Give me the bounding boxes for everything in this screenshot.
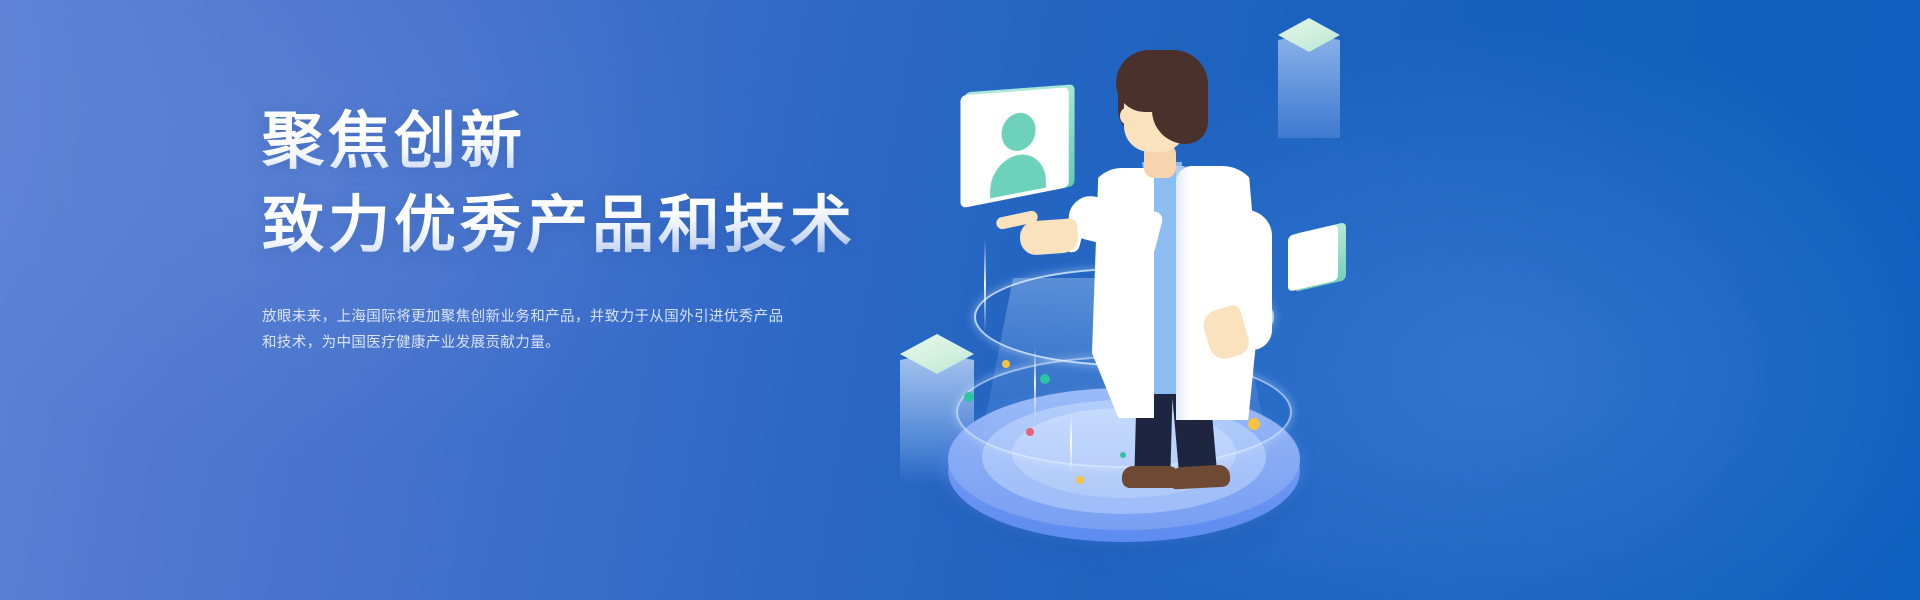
hero-illustration — [930, 0, 1750, 600]
banner-copy: 聚焦创新 致力优秀产品和技术 放眼未来，上海国际将更加聚焦创新业务和产品，并致力… — [262, 100, 902, 356]
doctor-shoe-right — [1169, 464, 1230, 489]
user-avatar-icon — [1002, 111, 1036, 153]
doctor-hair-sweep — [1152, 70, 1208, 144]
subtitle-line-1: 放眼未来，上海国际将更加聚焦创新业务和产品，并致力于从国外引进优秀产品 — [262, 304, 852, 330]
doctor-figure — [1058, 52, 1308, 488]
particle-dot — [1002, 360, 1010, 368]
particle-dot — [1026, 428, 1034, 436]
particle-dot — [1040, 374, 1050, 384]
avatar-card-face — [960, 87, 1068, 208]
headline-line-2: 致力优秀产品和技术 — [262, 184, 902, 268]
doctor-coat-shadow — [1176, 166, 1190, 420]
hero-banner: 聚焦创新 致力优秀产品和技术 放眼未来，上海国际将更加聚焦创新业务和产品，并致力… — [0, 0, 1920, 600]
particle-dot — [964, 392, 974, 402]
subtitle-line-2: 和技术，为中国医疗健康产业发展贡献力量。 — [262, 330, 852, 356]
banner-subtitle: 放眼未来，上海国际将更加聚焦创新业务和产品，并致力于从国外引进优秀产品 和技术，… — [262, 304, 852, 356]
light-streak — [1034, 348, 1036, 422]
light-streak — [984, 240, 986, 332]
headline-line-1: 聚焦创新 — [262, 100, 902, 184]
user-avatar-icon-body — [990, 151, 1046, 199]
